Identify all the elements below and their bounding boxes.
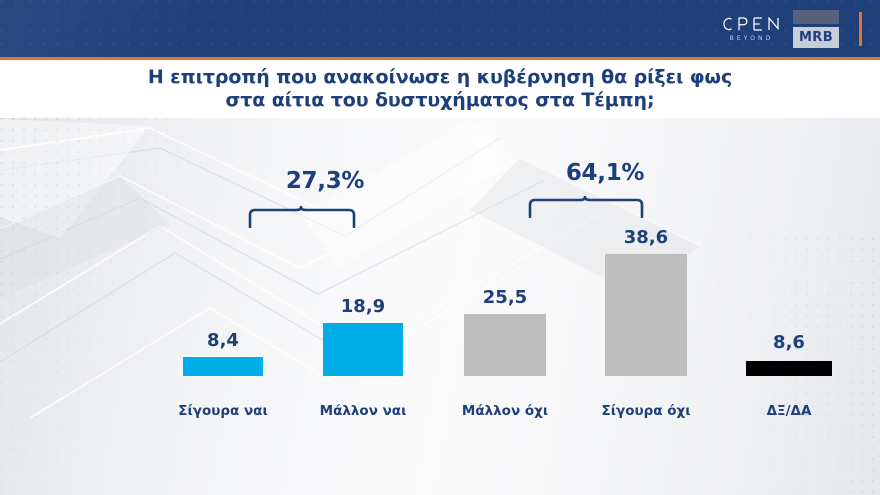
bar-value-3: 38,6: [605, 227, 687, 248]
open-wordmark: [721, 15, 779, 32]
bar-0-fill: [183, 357, 263, 376]
bar-4-fill: [746, 361, 832, 376]
chart-area: 27,3% 64,1% 8,4 Σίγουρα ναι 18,9 Μάλλον …: [0, 118, 880, 495]
background-dot-texture-left: [0, 118, 220, 495]
bar-category-4: ΔΞ/ΔΑ: [729, 403, 849, 419]
mrb-logo: MRB: [793, 10, 839, 48]
poll-result-graphic: BEYOND MRB Η επιτροπή που ανακοίνωσε η κ…: [0, 0, 880, 495]
mrb-logo-text: MRB: [799, 30, 833, 45]
bar-4: [746, 361, 832, 376]
bracket-total-label-no: 64,1%: [520, 160, 690, 186]
open-letter-n-icon: [768, 17, 779, 31]
title-band: Η επιτροπή που ανακοίνωσε η κυβέρνηση θα…: [0, 60, 880, 118]
open-letter-p-icon: [738, 17, 748, 31]
title-line-1: Η επιτροπή που ανακοίνωσε η κυβέρνηση θα…: [148, 66, 732, 88]
bar-value-4: 8,6: [746, 332, 832, 353]
bar-1-fill: [323, 323, 403, 376]
open-beyond-tagline: BEYOND: [727, 36, 774, 42]
poll-question-title: Η επιτροπή που ανακοίνωσε η κυβέρνηση θα…: [148, 66, 732, 112]
bracket-no: [528, 196, 646, 218]
mrb-logo-top-block: [793, 10, 839, 24]
open-letter-e-icon: [753, 17, 763, 31]
bar-value-2: 25,5: [464, 287, 546, 308]
open-beyond-logo: BEYOND: [721, 15, 779, 42]
open-letter-o-icon: [721, 17, 733, 31]
title-line-2: στα αίτια του δυστυχήματος στα Τέμπη;: [226, 89, 655, 111]
bar-value-0: 8,4: [183, 330, 263, 351]
background-polygon-texture: [0, 118, 880, 495]
bar-2-fill: [464, 314, 546, 376]
bracket-yes: [248, 206, 358, 228]
bar-value-1: 18,9: [323, 296, 403, 317]
bar-2: [464, 314, 546, 376]
mrb-logo-bottom-block: MRB: [793, 27, 839, 48]
bar-category-0: Σίγουρα ναι: [163, 403, 283, 419]
logo-group: BEYOND MRB: [721, 0, 862, 57]
bar-3: [605, 254, 687, 376]
header-bar: BEYOND MRB: [0, 0, 880, 57]
bar-category-2: Μάλλον όχι: [445, 403, 565, 419]
bar-0: [183, 357, 263, 376]
bar-3-fill: [605, 254, 687, 376]
bar-1: [323, 323, 403, 376]
bar-category-3: Σίγουρα όχι: [586, 403, 706, 419]
bracket-total-label-yes: 27,3%: [240, 168, 410, 194]
bar-category-1: Μάλλον ναι: [303, 403, 423, 419]
header-orange-divider: [859, 12, 862, 46]
